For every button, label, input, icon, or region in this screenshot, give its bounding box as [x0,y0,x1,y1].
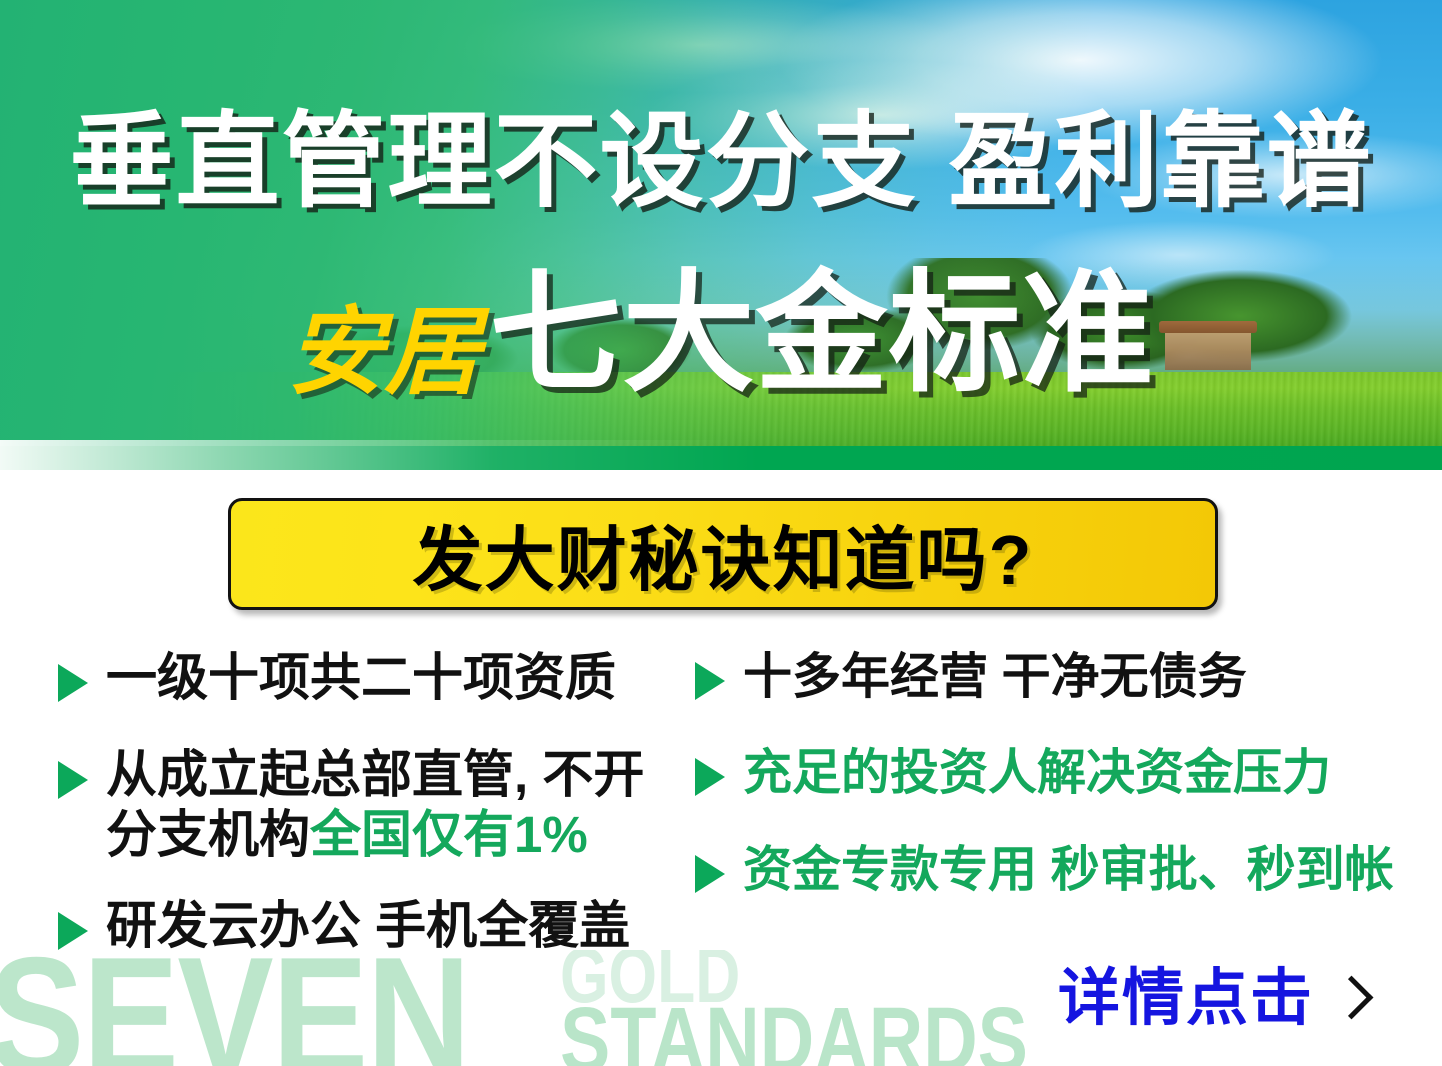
feature-left-2-line1: 从成立起总部直管, 不开 [106,745,644,806]
list-item: 十多年经营 干净无债务 [695,648,1415,706]
hero-bottom-left-fade [0,440,760,470]
hero-headline-primary: 垂直管理不设分支 盈利靠谱 [0,110,1442,214]
chevron-right-icon [1330,975,1374,1019]
triangle-bullet-icon [58,761,88,799]
headline-cta-bar-label: 发大财秘诀知道吗? [413,504,1034,605]
feature-right-3-text: 资金专款专用 秒审批、秒到帐 [743,841,1394,899]
feature-left-2-line2-highlight: 全国仅有1% [310,806,588,863]
feature-left-2-line2: 分支机构全国仅有1% [106,805,644,866]
hero-headline-secondary-row: 安居七大金标准 [0,268,1442,401]
hero-brand-word: 安居 [288,299,490,406]
list-item: 充足的投资人解决资金压力 [695,744,1415,802]
triangle-bullet-icon [58,664,88,702]
feature-columns: 一级十项共二十项资质 从成立起总部直管, 不开 分支机构全国仅有1% 研发云办公… [0,648,1442,1008]
hero-section: 垂直管理不设分支 盈利靠谱 安居七大金标准 [0,0,1442,470]
feature-right-1-text: 十多年经营 干净无债务 [743,648,1247,706]
feature-left-2-line2-plain: 分支机构 [106,806,310,863]
list-item: 研发云办公 手机全覆盖 [58,896,698,957]
list-item: 一级十项共二十项资质 [58,648,698,709]
list-item: 资金专款专用 秒审批、秒到帐 [695,841,1415,899]
triangle-bullet-icon [695,758,725,796]
feature-right-2-text: 充足的投资人解决资金压力 [743,744,1331,802]
details-link[interactable]: 详情点击 [1058,968,1367,1030]
feature-column-left: 一级十项共二十项资质 从成立起总部直管, 不开 分支机构全国仅有1% 研发云办公… [58,648,698,983]
headline-cta-bar[interactable]: 发大财秘诀知道吗? [228,498,1218,610]
triangle-bullet-icon [695,855,725,893]
feature-left-1-text: 一级十项共二十项资质 [106,648,616,709]
list-item: 从成立起总部直管, 不开 分支机构全国仅有1% [58,745,698,866]
promo-banner: 垂直管理不设分支 盈利靠谱 安居七大金标准 发大财秘诀知道吗? SEVEN GO… [0,0,1442,1066]
hero-headline-secondary: 七大金标准 [490,260,1155,407]
feature-left-2-text: 从成立起总部直管, 不开 分支机构全国仅有1% [106,745,644,866]
triangle-bullet-icon [58,912,88,950]
details-link-label: 详情点击 [1058,968,1314,1030]
feature-left-3-text: 研发云办公 手机全覆盖 [106,896,630,957]
triangle-bullet-icon [695,662,725,700]
feature-column-right: 十多年经营 干净无债务 充足的投资人解决资金压力 资金专款专用 秒审批、秒到帐 [695,648,1415,925]
